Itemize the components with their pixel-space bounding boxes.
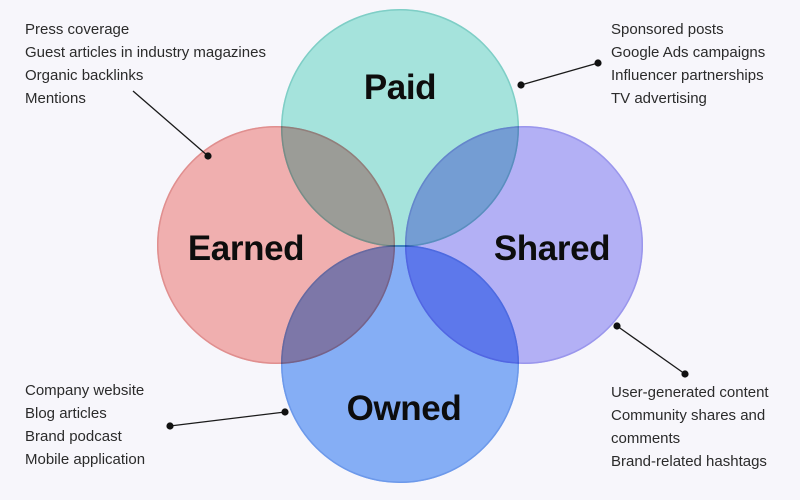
annotation-paid: Sponsored posts Google Ads campaigns Inf… [611,18,791,110]
annotation-shared: User-generated content Community shares … [611,381,791,473]
venn-diagram-canvas: Paid Earned Shared Owned Press coverage … [0,0,800,500]
annotation-owned: Company website Blog articles Brand podc… [25,379,275,471]
venn-circle-owned[interactable] [281,245,519,483]
annotation-earned: Press coverage Guest articles in industr… [25,18,305,110]
